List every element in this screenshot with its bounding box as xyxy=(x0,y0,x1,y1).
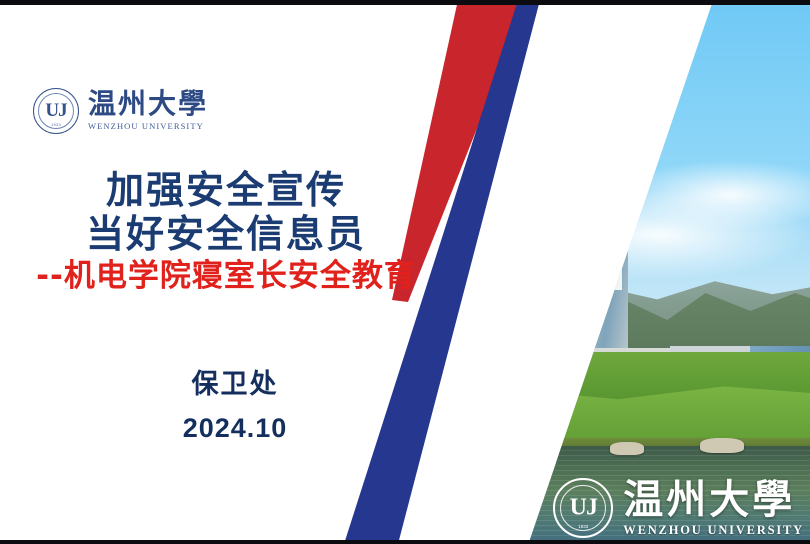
title-line-2: 当好安全信息员 xyxy=(0,212,452,256)
logo-text: 温州大學 WENZHOU UNIVERSITY xyxy=(88,91,208,131)
tower-crown xyxy=(578,154,622,204)
title-block: 加强安全宣传 当好安全信息员 --机电学院寝室长安全教育 xyxy=(0,168,452,295)
tree-trunk xyxy=(519,504,522,544)
shore-stone xyxy=(490,440,530,454)
university-logo: UJ 1933 温州大學 WENZHOU UNIVERSITY xyxy=(33,88,208,134)
tower-band xyxy=(568,214,628,218)
seal-year: 1933 xyxy=(51,122,61,127)
logo-chinese-name: 温州大學 xyxy=(88,91,208,119)
seal-monogram: UJ xyxy=(45,100,66,122)
watermark-chinese-name: 温州大學 xyxy=(623,480,804,520)
tree-crown xyxy=(500,460,542,514)
shore-stone xyxy=(700,438,744,453)
university-seal-icon: UJ 1933 xyxy=(33,88,79,134)
watermark-seal-icon: UJ 1933 xyxy=(553,478,613,538)
tower-emblem xyxy=(604,260,616,278)
watermark-seal-monogram: UJ xyxy=(570,495,597,522)
logo-english-name: WENZHOU UNIVERSITY xyxy=(88,122,208,131)
tower-panel xyxy=(598,248,622,290)
presenter-block: 保卫处 2024.10 xyxy=(0,362,470,444)
presentation-slide: UJ 1933 温州大學 WENZHOU UNIVERSITY 加强安全宣传 当… xyxy=(0,0,810,544)
presenter-organization: 保卫处 xyxy=(0,362,470,401)
title-subtitle: --机电学院寝室长安全教育 xyxy=(0,258,452,295)
watermark-text: 温州大學 WENZHOU UNIVERSITY xyxy=(623,480,804,537)
shore-stone xyxy=(610,442,644,455)
watermark-english-name: WENZHOU UNIVERSITY xyxy=(623,524,804,537)
presentation-date: 2024.10 xyxy=(0,413,470,444)
tower-shaft xyxy=(568,202,628,352)
tower-spire xyxy=(596,132,598,154)
bottom-border xyxy=(0,540,810,544)
top-border xyxy=(0,0,810,5)
title-line-1: 加强安全宣传 xyxy=(0,168,452,212)
watermark-seal-year: 1933 xyxy=(578,524,588,529)
tower-emblem xyxy=(576,258,588,276)
tower-glass-facade xyxy=(570,236,594,340)
university-watermark: UJ 1933 温州大學 WENZHOU UNIVERSITY xyxy=(553,478,804,538)
tower-panel xyxy=(571,246,593,286)
